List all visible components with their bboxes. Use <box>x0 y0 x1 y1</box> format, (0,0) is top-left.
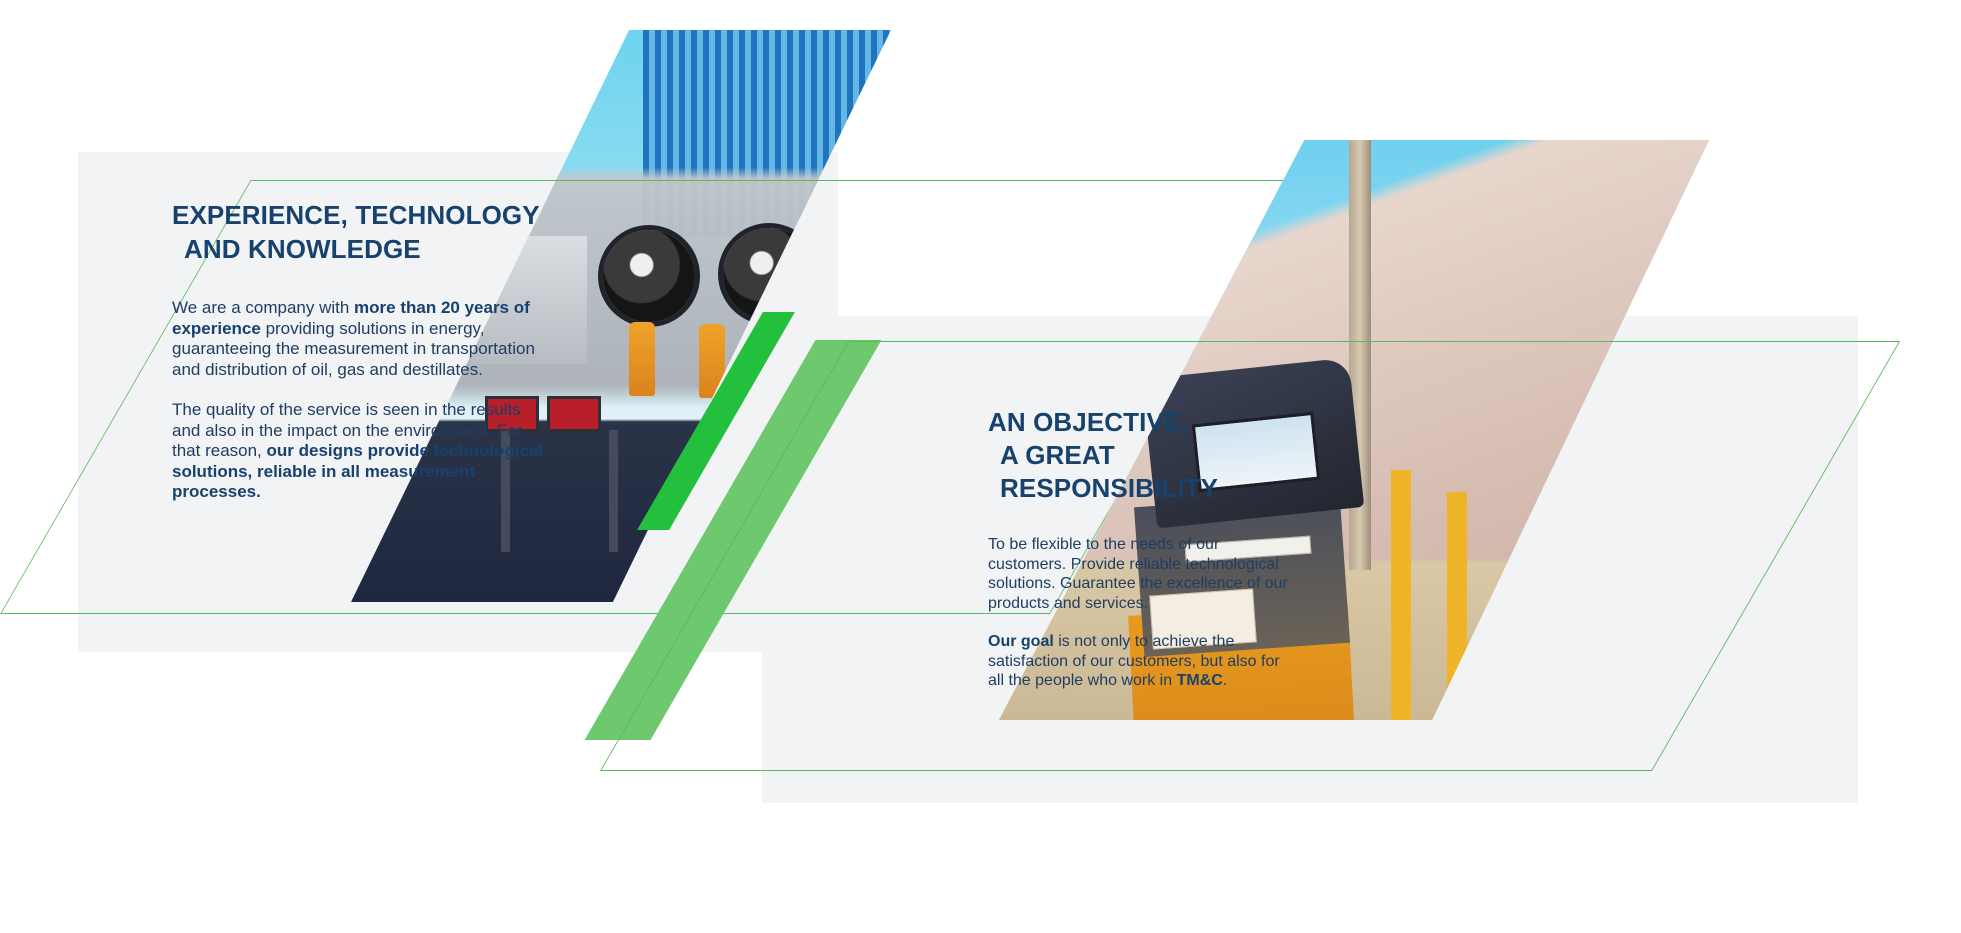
experience-p1-run1: We are a company with <box>172 298 354 317</box>
experience-paragraph-1: We are a company with more than 20 years… <box>172 298 552 380</box>
objective-paragraph-1: To be flexible to the needs of our custo… <box>988 535 1288 613</box>
experience-text-block: EXPERIENCE, TECHNOLOGY AND KNOWLEDGE We … <box>172 198 552 503</box>
experience-heading-line1: EXPERIENCE, TECHNOLOGY <box>172 200 540 230</box>
objective-p2-bold2: TM&C <box>1177 672 1223 689</box>
experience-heading-line2: AND KNOWLEDGE <box>172 232 552 266</box>
objective-heading-line2: A GREAT RESPONSIBILITY <box>988 439 1288 505</box>
objective-p1-run1: To be flexible to the needs of our custo… <box>988 536 1288 612</box>
objective-heading-line1: AN OBJECTIVE, <box>988 407 1189 437</box>
objective-paragraph-2: Our goal is not only to achieve the sati… <box>988 632 1288 691</box>
objective-heading: AN OBJECTIVE, A GREAT RESPONSIBILITY <box>988 406 1288 505</box>
objective-p2-run2: . <box>1223 672 1227 689</box>
experience-heading: EXPERIENCE, TECHNOLOGY AND KNOWLEDGE <box>172 198 552 266</box>
objective-p2-bold1: Our goal <box>988 633 1054 650</box>
objective-text-block: AN OBJECTIVE, A GREAT RESPONSIBILITY To … <box>988 406 1288 691</box>
experience-paragraph-2: The quality of the service is seen in th… <box>172 400 552 503</box>
page-canvas: EXPERIENCE, TECHNOLOGY AND KNOWLEDGE We … <box>0 0 1961 933</box>
